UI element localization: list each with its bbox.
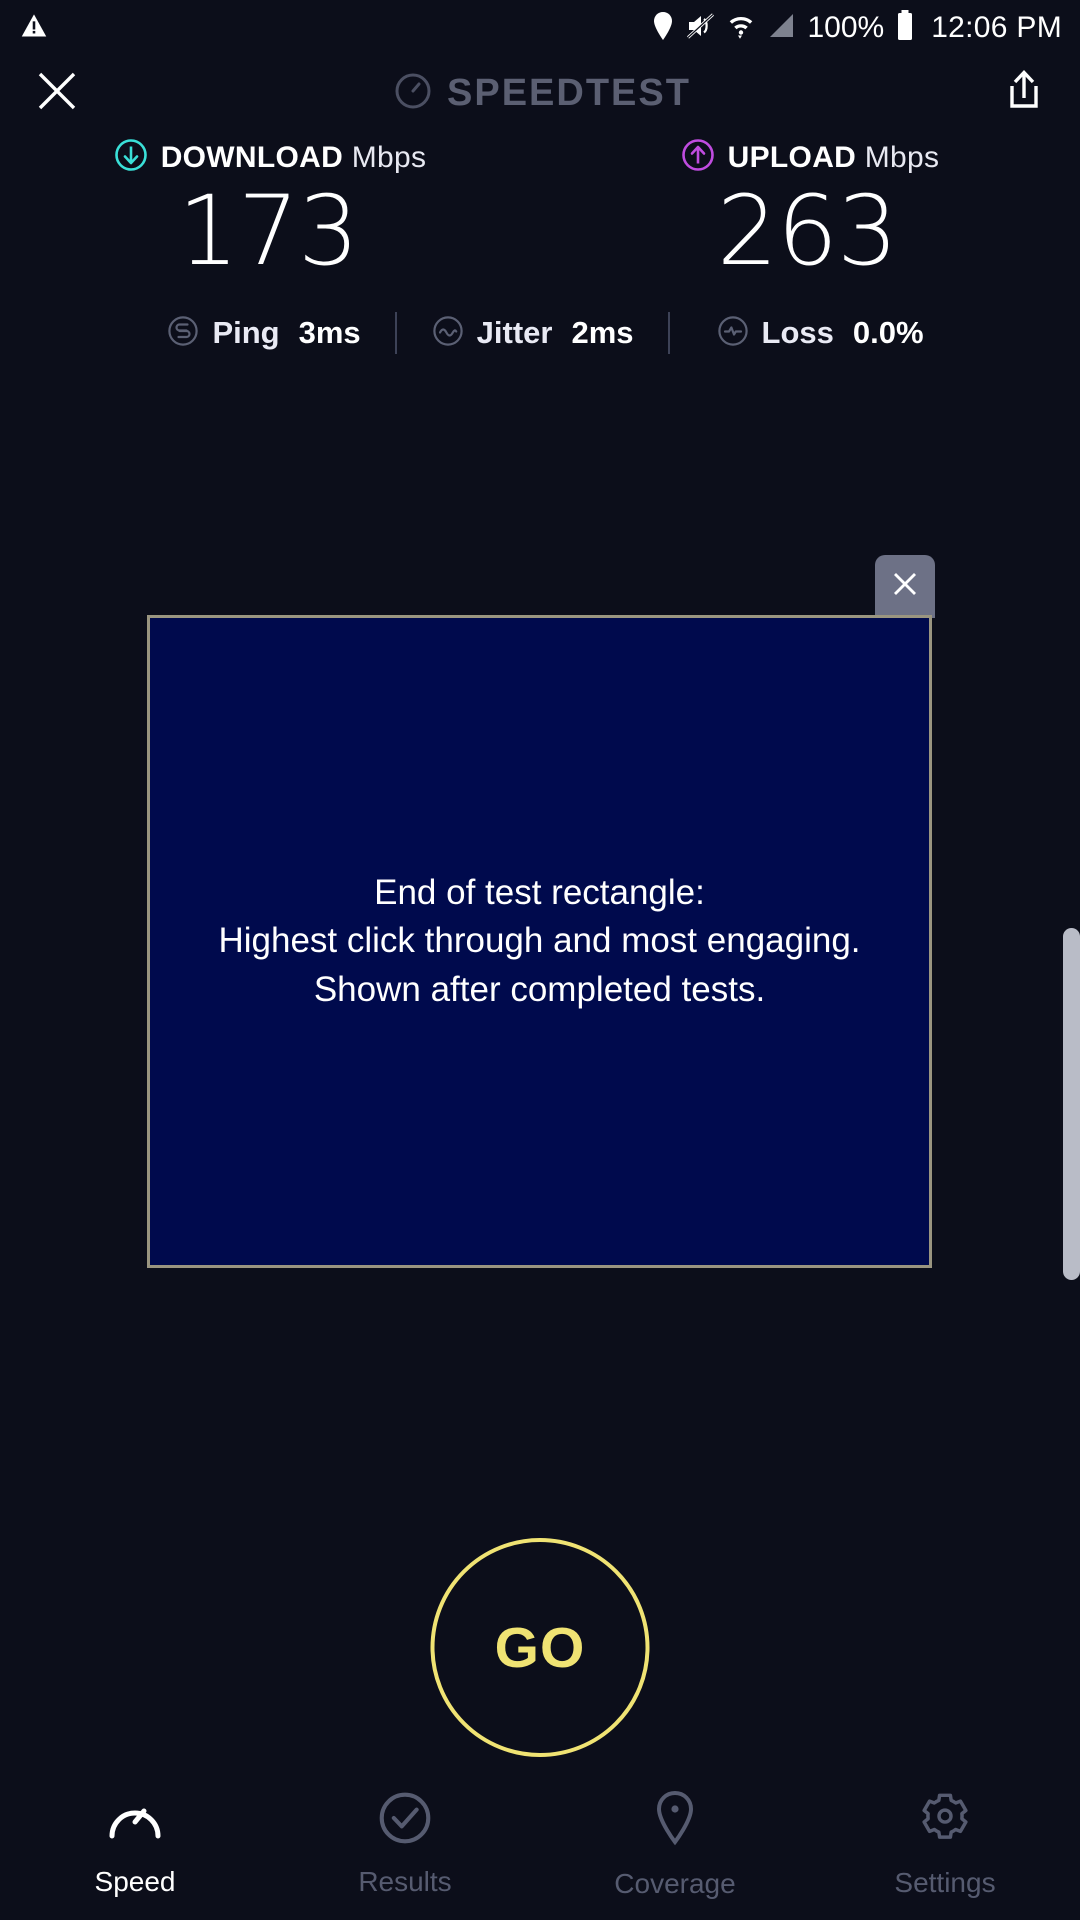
close-icon bbox=[888, 567, 922, 606]
scrollbar-thumb[interactable] bbox=[1063, 928, 1080, 1280]
app-title: SPEEDTEST bbox=[447, 72, 691, 115]
go-button[interactable]: GO bbox=[431, 1538, 650, 1757]
ad-banner[interactable]: End of test rectangle: Highest click thr… bbox=[147, 615, 932, 1268]
ping-arrows-icon bbox=[166, 314, 200, 353]
status-bar-left bbox=[20, 12, 48, 45]
metric-jitter-label: Jitter bbox=[477, 315, 553, 351]
metric-divider bbox=[668, 312, 670, 354]
upload-unit: Mbps bbox=[865, 141, 940, 174]
metrics-row: Ping 3ms Jitter 2ms Loss 0.0 bbox=[0, 300, 1080, 366]
clock-label: 12:06 PM bbox=[931, 11, 1062, 45]
share-icon[interactable] bbox=[1004, 68, 1044, 119]
nav-item-results-label: Results bbox=[358, 1866, 451, 1898]
go-button-label: GO bbox=[495, 1615, 586, 1681]
upload-arrow-icon bbox=[681, 138, 715, 177]
nav-item-speed-label: Speed bbox=[95, 1866, 176, 1898]
metric-jitter: Jitter 2ms bbox=[431, 314, 634, 353]
wifi-icon bbox=[727, 11, 755, 46]
download-value: 173 bbox=[178, 183, 358, 279]
metric-ping: Ping 3ms bbox=[166, 314, 360, 353]
nav-item-speed[interactable]: Speed bbox=[0, 1791, 270, 1898]
close-icon[interactable] bbox=[34, 68, 80, 119]
download-arrow-icon bbox=[114, 138, 148, 177]
speedtest-gauge-icon bbox=[393, 71, 433, 116]
upload-label: UPLOAD bbox=[728, 141, 856, 174]
nav-item-coverage[interactable]: Coverage bbox=[540, 1789, 810, 1900]
nav-item-coverage-label: Coverage bbox=[614, 1868, 735, 1900]
battery-percent-label: 100% bbox=[807, 11, 884, 45]
warning-triangle-icon bbox=[20, 12, 48, 45]
results-check-icon bbox=[376, 1791, 434, 1850]
ad-close-button[interactable] bbox=[875, 555, 935, 618]
speed-gauge-icon bbox=[106, 1791, 164, 1850]
brand: SPEEDTEST bbox=[393, 71, 691, 116]
download-unit: Mbps bbox=[352, 141, 427, 174]
advertisement[interactable]: End of test rectangle: Highest click thr… bbox=[147, 615, 932, 1268]
metric-loss-value: 0.0% bbox=[853, 315, 924, 351]
coverage-pin-icon bbox=[650, 1789, 700, 1852]
jitter-wave-icon bbox=[431, 314, 465, 353]
location-pin-icon bbox=[651, 11, 675, 46]
nav-item-settings[interactable]: Settings bbox=[810, 1790, 1080, 1899]
metric-loss: Loss 0.0% bbox=[716, 314, 924, 353]
ad-line-3: Shown after completed tests. bbox=[218, 966, 860, 1014]
metric-ping-value: 3ms bbox=[299, 315, 361, 351]
upload-result: UPLOAD Mbps 263 bbox=[540, 138, 1080, 279]
metric-ping-label: Ping bbox=[212, 315, 279, 351]
ad-line-1: End of test rectangle: bbox=[218, 869, 860, 917]
results-summary: DOWNLOAD Mbps 173 UPLOAD Mbps 263 bbox=[0, 138, 1080, 279]
status-bar-right: 100% 12:06 PM bbox=[651, 10, 1062, 47]
download-result: DOWNLOAD Mbps 173 bbox=[0, 138, 540, 279]
volume-muted-icon bbox=[686, 12, 716, 45]
loss-pulse-icon bbox=[716, 314, 750, 353]
nav-item-settings-label: Settings bbox=[894, 1867, 995, 1899]
cellular-signal-icon bbox=[766, 12, 796, 45]
battery-full-icon bbox=[895, 10, 915, 47]
download-label: DOWNLOAD bbox=[161, 141, 343, 174]
ad-text: End of test rectangle: Highest click thr… bbox=[204, 869, 874, 1014]
nav-item-results[interactable]: Results bbox=[270, 1791, 540, 1898]
speedtest-app-screen: 100% 12:06 PM SPEEDTEST bbox=[0, 0, 1080, 1920]
settings-gear-icon bbox=[916, 1790, 974, 1851]
upload-value: 263 bbox=[717, 183, 897, 279]
metric-jitter-value: 2ms bbox=[571, 315, 633, 351]
metric-divider bbox=[395, 312, 397, 354]
app-header: SPEEDTEST bbox=[0, 56, 1080, 130]
metric-loss-label: Loss bbox=[762, 315, 834, 351]
status-bar: 100% 12:06 PM bbox=[0, 0, 1080, 56]
ad-line-2: Highest click through and most engaging. bbox=[218, 917, 860, 965]
bottom-navigation: Speed Results Coverage bbox=[0, 1768, 1080, 1920]
